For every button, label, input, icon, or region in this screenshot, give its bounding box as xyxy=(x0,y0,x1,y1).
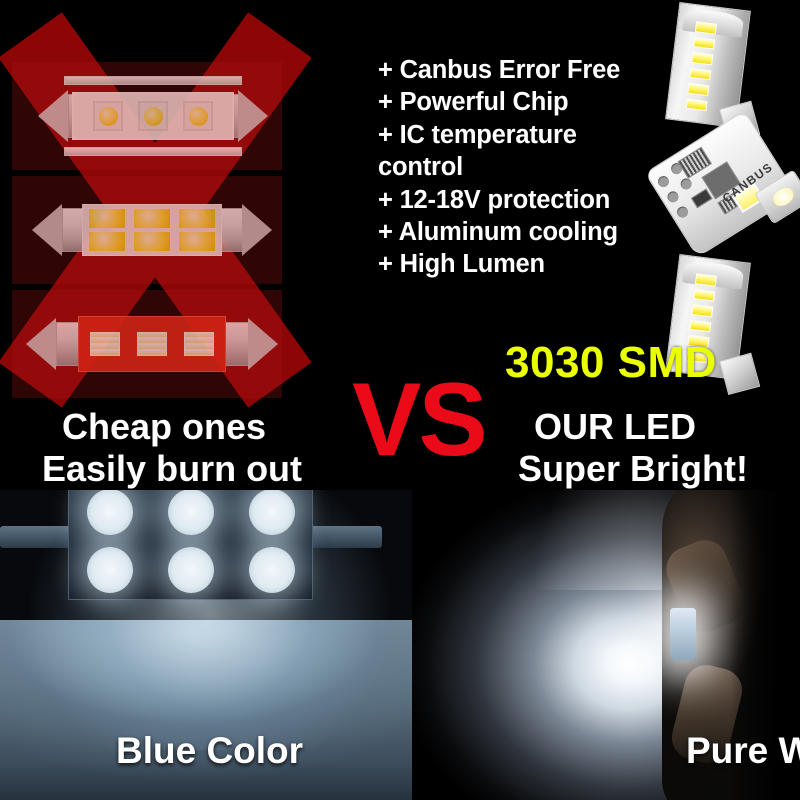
led-chip-group xyxy=(177,332,221,356)
cheap-side-title: Cheap ones xyxy=(62,406,266,448)
feature-item: + Canbus Error Free xyxy=(378,54,683,86)
feature-item: + 12-18V protection xyxy=(378,184,683,216)
led-chip xyxy=(178,231,216,252)
feature-item: + High Lumen xyxy=(378,248,683,280)
led-chip xyxy=(693,37,715,50)
bottom-photo-panel: Blue Color Pure White xyxy=(0,490,800,800)
lit-led xyxy=(249,547,295,593)
lit-led xyxy=(87,490,133,535)
bulb-end-cap-right xyxy=(242,204,272,256)
bulb-socket-right xyxy=(310,526,382,548)
led-chip xyxy=(88,208,126,229)
lit-led xyxy=(249,490,295,535)
led-chip xyxy=(688,83,710,96)
lit-cheap-bulb xyxy=(68,490,313,600)
feature-item: + Powerful Chip xyxy=(378,86,683,118)
bulb-pcb xyxy=(78,316,226,372)
led-chip xyxy=(183,101,213,131)
our-side-subtitle: Super Bright! xyxy=(518,448,748,490)
led-chip xyxy=(695,22,717,35)
bulb-base-tail xyxy=(719,353,760,396)
bulb-rail-top xyxy=(64,76,242,85)
led-chip xyxy=(178,208,216,229)
led-chip-group xyxy=(83,332,127,356)
led-chip xyxy=(133,208,171,229)
led-chip xyxy=(691,304,713,317)
feature-item: + Aluminum cooling xyxy=(378,216,683,248)
pure-white-light-photo: Pure White xyxy=(412,490,800,800)
pure-white-caption: Pure White xyxy=(686,730,800,772)
bulb-pcb xyxy=(82,204,222,256)
top-comparison-panel: + Canbus Error Free + Powerful Chip + IC… xyxy=(0,0,800,500)
feature-item: + IC temperature control xyxy=(378,119,683,184)
lit-led xyxy=(87,547,133,593)
our-side-title: OUR LED xyxy=(534,406,696,448)
led-chip xyxy=(693,289,715,302)
blue-color-caption: Blue Color xyxy=(116,730,303,772)
led-chip xyxy=(695,274,717,287)
smd-type-label: 3030 SMD xyxy=(505,338,717,388)
cheap-bulb-6-smd xyxy=(12,176,282,284)
our-festoon-bulb-top xyxy=(665,2,751,128)
product-comparison-image: + Canbus Error Free + Powerful Chip + IC… xyxy=(0,0,800,800)
bulb-end-cap-right xyxy=(248,318,278,370)
led-chip-group xyxy=(130,332,174,356)
led-chip xyxy=(689,68,711,81)
led-chip xyxy=(138,101,168,131)
bulb-end-cap-left xyxy=(38,90,68,142)
led-chip xyxy=(689,320,711,333)
vs-divider-label: VS xyxy=(352,368,485,472)
lit-led xyxy=(168,547,214,593)
blue-light-photo: Blue Color xyxy=(0,490,412,800)
led-chip xyxy=(770,184,797,209)
bulb-pcb xyxy=(72,92,234,140)
bulb-end-cap-left xyxy=(26,318,56,370)
feature-list: + Canbus Error Free + Powerful Chip + IC… xyxy=(378,54,683,281)
led-chip xyxy=(93,101,123,131)
cheap-bulb-red-pcb xyxy=(12,290,282,398)
bulb-socket-left xyxy=(0,526,72,548)
bulb-end-cap-right xyxy=(238,90,268,142)
led-chip xyxy=(88,231,126,252)
cheap-bulb-3-smd xyxy=(12,62,282,170)
bulb-end-cap-left xyxy=(32,204,62,256)
lit-our-bulb xyxy=(670,608,696,660)
led-chip xyxy=(686,98,708,111)
lit-led xyxy=(168,490,214,535)
led-chip xyxy=(691,52,713,65)
bulb-rail-bottom xyxy=(64,147,242,156)
cheap-side-subtitle: Easily burn out xyxy=(42,448,302,490)
led-chip xyxy=(133,231,171,252)
